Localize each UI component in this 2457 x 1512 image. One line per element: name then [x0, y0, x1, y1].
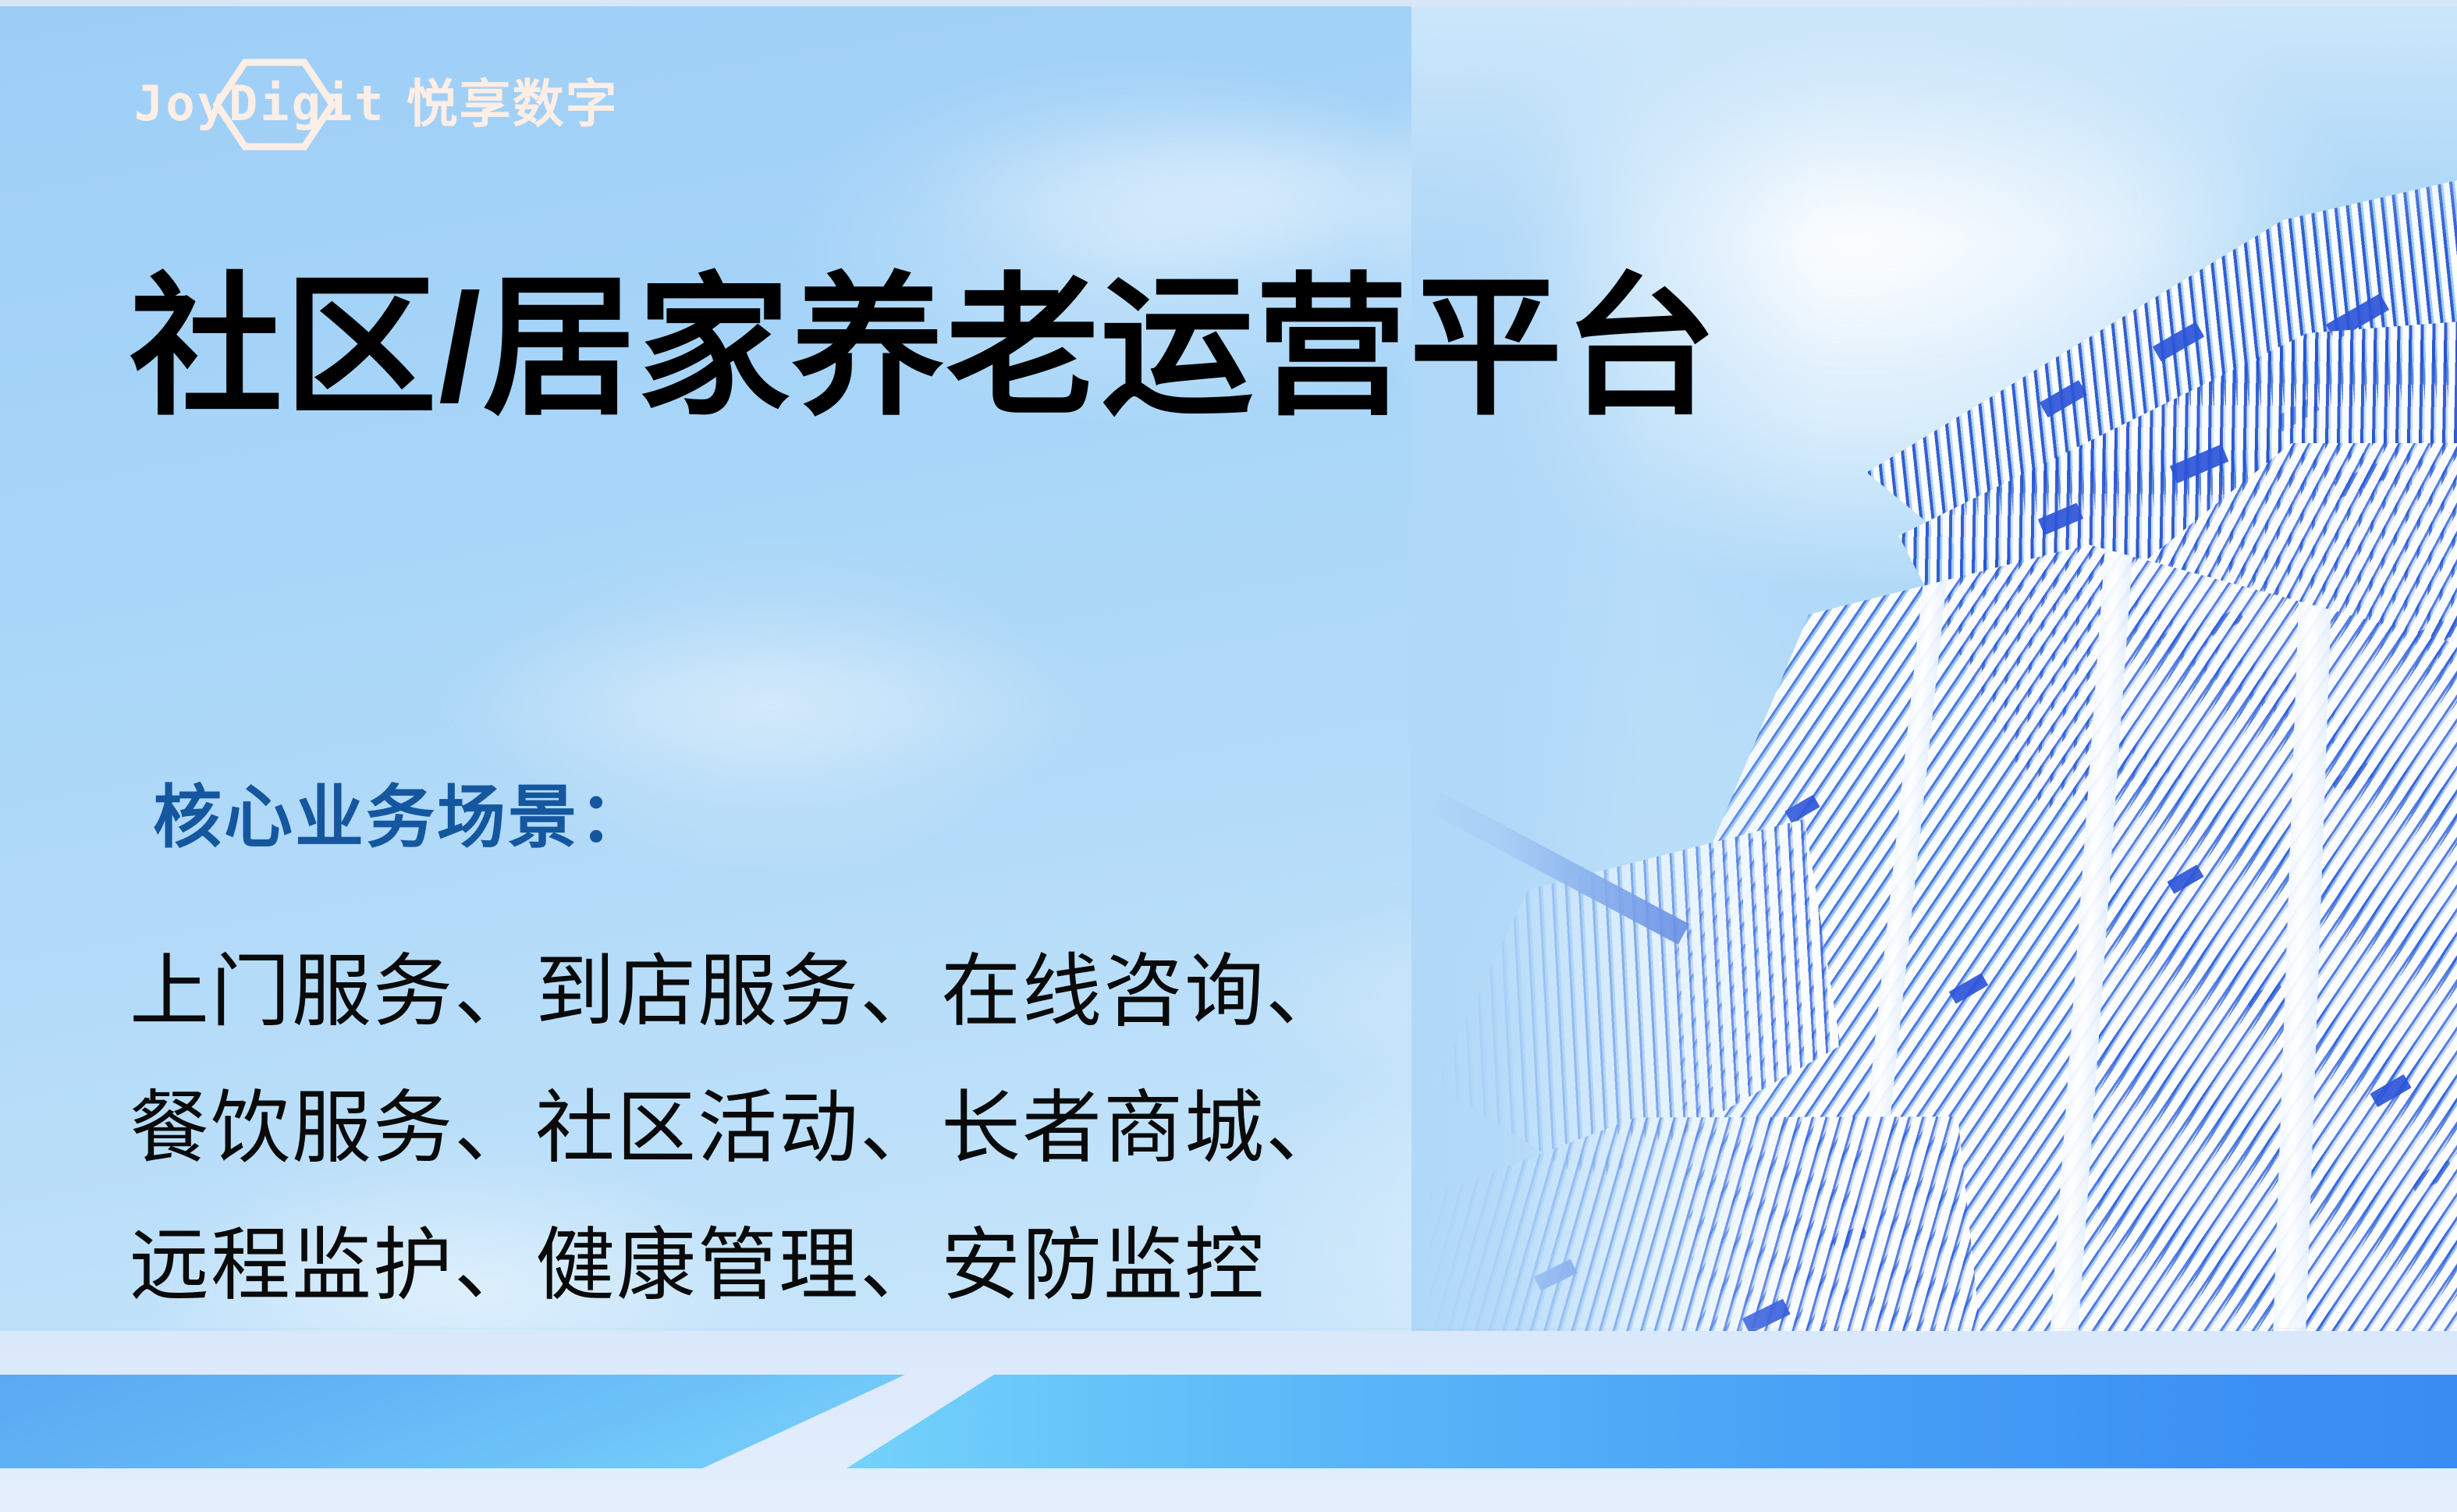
brand-logo-en: JoyDigit [134, 80, 386, 128]
cloud-wisp [421, 615, 1124, 794]
slide-root: JoyDigit 悦享数字 社区/居家养老运营平台 核心业务场景： 上门服务、到… [0, 0, 2457, 1512]
brand-logo-cn: 悦享数字 [407, 78, 619, 130]
scenario-line: 餐饮服务、社区活动、长者商城、 [130, 1060, 1347, 1197]
scenario-line: 远程监护、健康管理、安防监控 [130, 1198, 1347, 1334]
bottom-decorative-band [0, 1331, 2457, 1512]
section-heading: 核心业务场景： [153, 780, 650, 856]
skyscraper-upward-view-photo [1411, 6, 2457, 1387]
scenario-line: 上门服务、到店服务、在线咨询、 [130, 924, 1347, 1060]
page-title: 社区/居家养老运营平台 [130, 267, 1718, 429]
band-parallelogram-right [847, 1375, 2457, 1468]
brand-logo[interactable]: JoyDigit 悦享数字 [134, 61, 619, 147]
scenario-list: 上门服务、到店服务、在线咨询、 餐饮服务、社区活动、长者商城、 远程监护、健康管… [130, 924, 1347, 1334]
photo-top-fade [1411, 6, 2457, 240]
top-hairline-divider [0, 0, 2457, 6]
